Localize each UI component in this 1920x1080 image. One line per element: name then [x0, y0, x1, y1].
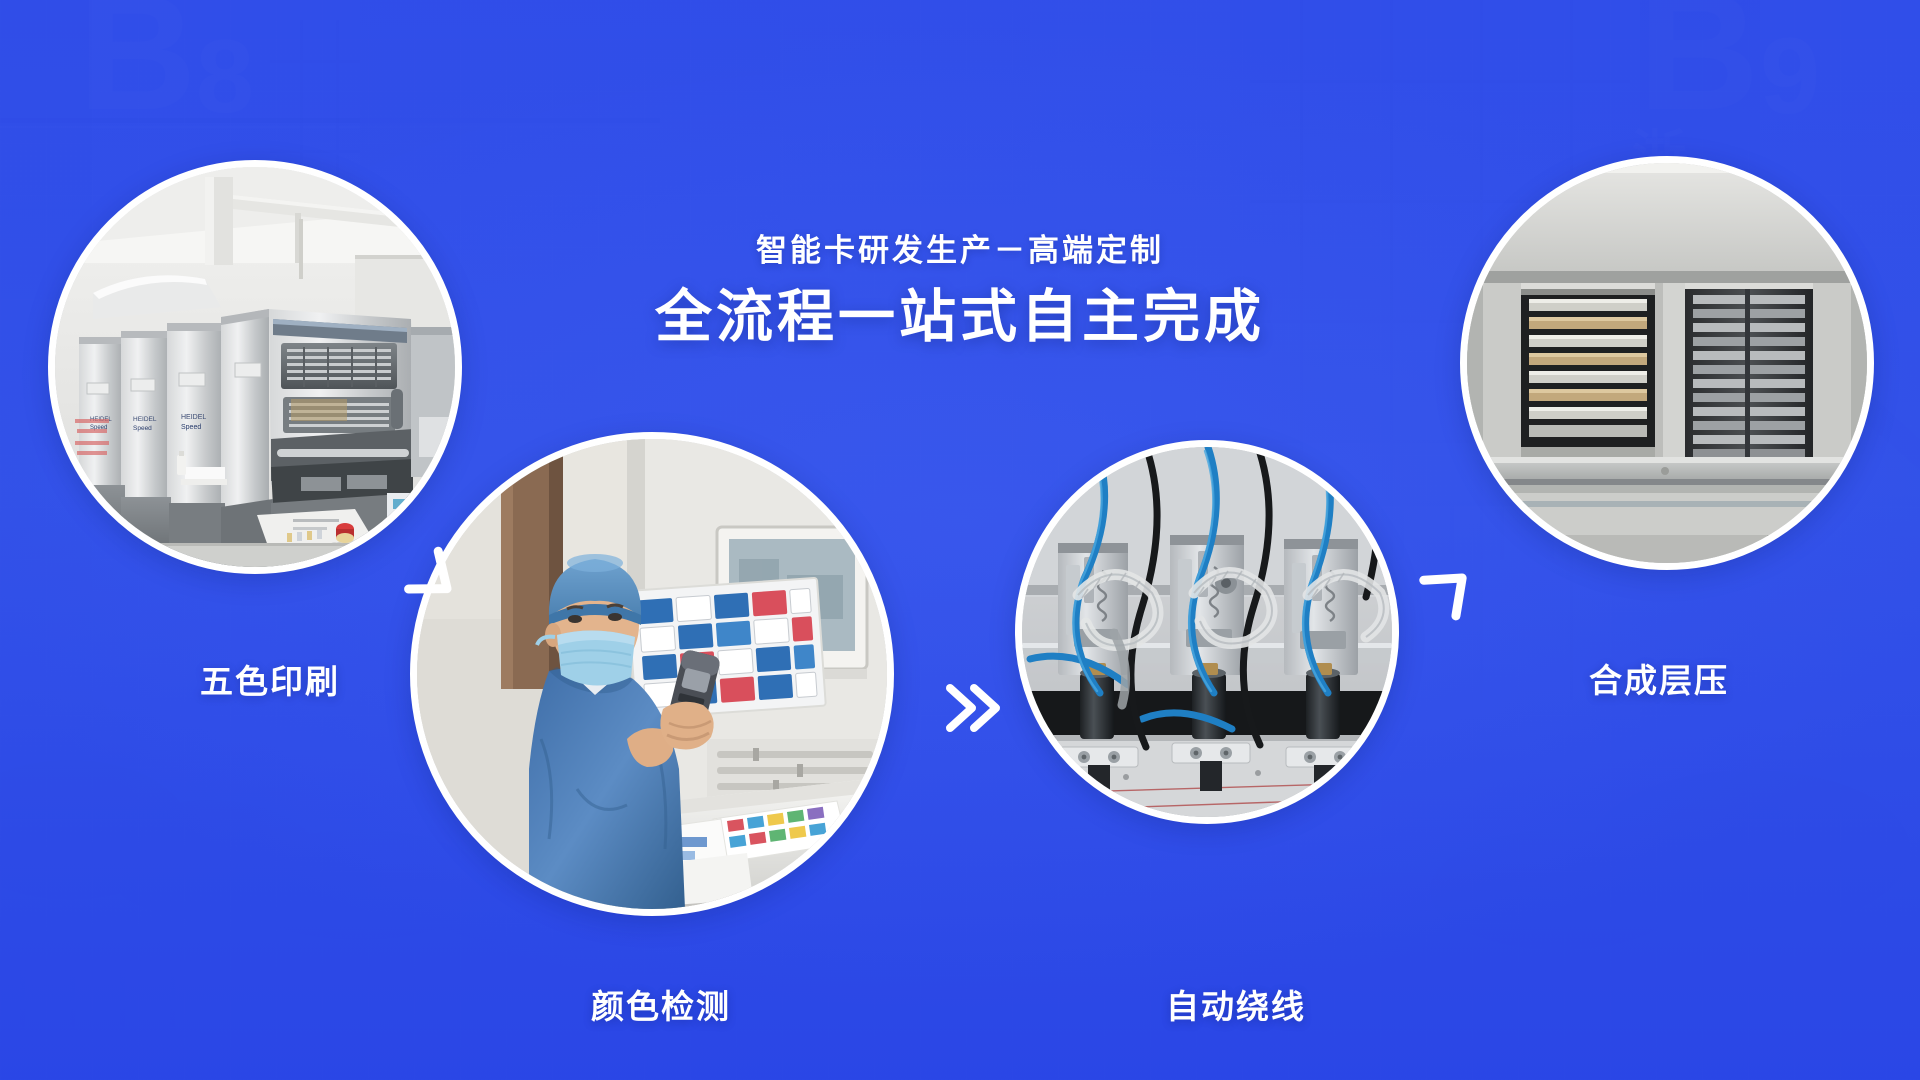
- chevron-right-icon: [1406, 548, 1496, 628]
- step-label-lamination-press: 合成层压: [1589, 654, 1729, 702]
- promo-banner: B 8 B 9 浙 智能卡研发生产－高端定制 全流程一站式自主完成: [0, 0, 1920, 1080]
- arrow-step2-to-step3: [930, 668, 1020, 748]
- step-label-color-inspection: 颜色检测: [591, 980, 731, 1028]
- arrow-step3-to-step4: [1406, 548, 1496, 628]
- step-label-five-color-printing: 五色印刷: [200, 655, 340, 703]
- step-image-five-color-printing[interactable]: HEIDEL Speed HEIDEL Speed HEIDEL Speed: [48, 160, 462, 574]
- step-image-automatic-winding[interactable]: [1015, 440, 1399, 824]
- svg-text:Speed: Speed: [133, 425, 152, 432]
- step-image-color-inspection[interactable]: [410, 432, 894, 916]
- automatic-coil-winding-photo: [1022, 447, 1392, 817]
- arrow-step1-to-step2: [396, 540, 476, 620]
- lamination-press-photo: [1467, 163, 1867, 563]
- color-inspection-photo: [417, 439, 887, 909]
- svg-text:HEIDEL: HEIDEL: [133, 416, 157, 423]
- svg-text:HEIDEL: HEIDEL: [181, 414, 206, 421]
- step-label-automatic-winding: 自动绕线: [1166, 980, 1306, 1028]
- step-image-lamination-press[interactable]: [1460, 156, 1874, 570]
- svg-text:Speed: Speed: [181, 424, 201, 431]
- double-chevron-right-icon: [930, 668, 1020, 748]
- five-color-printing-press-photo: HEIDEL Speed HEIDEL Speed HEIDEL Speed: [55, 167, 455, 567]
- chevron-right-icon: [396, 540, 476, 620]
